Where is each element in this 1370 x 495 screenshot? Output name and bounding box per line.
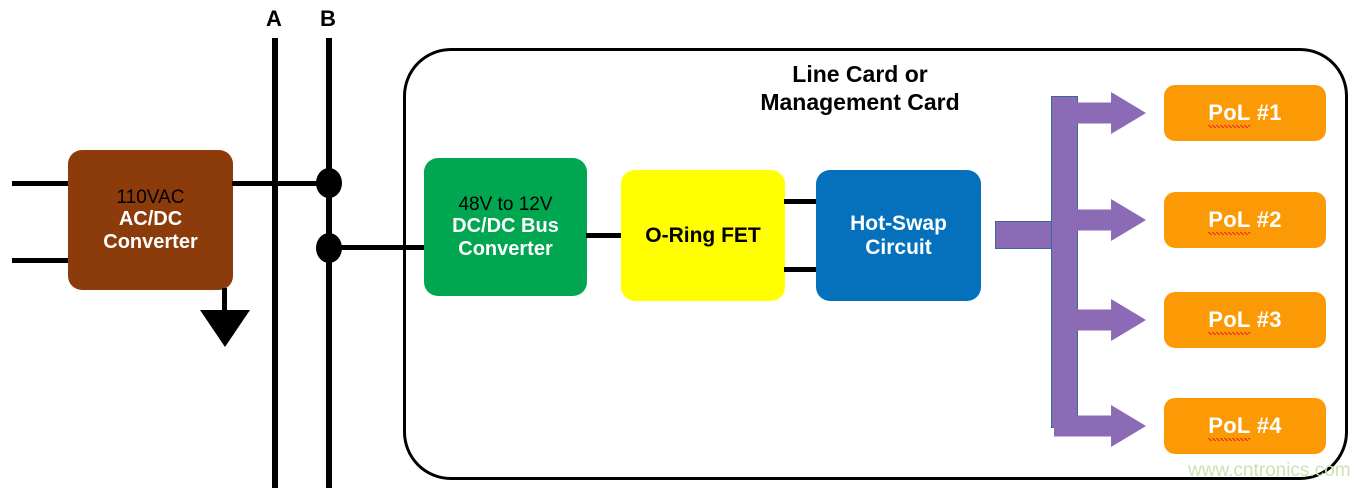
- block-pol-4[interactable]: PoL #4: [1164, 398, 1326, 454]
- block-dcdc-bus-converter[interactable]: 48V to 12V DC/DC Bus Converter: [424, 158, 587, 296]
- block-oring-fet[interactable]: O-Ring FET: [621, 170, 785, 301]
- junction-dot-upper: [316, 168, 342, 198]
- line-card-title-line1: Line Card or: [700, 60, 1020, 88]
- ac-input-line-top: [12, 181, 70, 186]
- block-pol-3-label: PoL #3: [1208, 307, 1282, 333]
- wire-dcdc-to-oring: [586, 233, 623, 238]
- block-dcdc-label-line1: DC/DC Bus: [452, 215, 559, 237]
- block-pol-1[interactable]: PoL #1: [1164, 85, 1326, 141]
- block-pol-4-label: PoL #4: [1208, 413, 1282, 439]
- block-pol-2-label: PoL #2: [1208, 207, 1282, 233]
- wire-oring-to-hotswap-bottom: [784, 267, 818, 272]
- block-acdc-sublabel: 110VAC: [117, 187, 185, 208]
- wire-oring-to-hotswap-top: [784, 199, 818, 204]
- pol-3-suffix: #3: [1250, 307, 1281, 332]
- bus-label-b: B: [320, 6, 336, 32]
- block-acdc-label-line2: Converter: [103, 231, 197, 253]
- block-pol-1-label: PoL #1: [1208, 100, 1282, 126]
- pol-2-word: PoL: [1208, 207, 1250, 235]
- bus-b-tap-wire: [336, 245, 431, 250]
- line-card-title: Line Card or Management Card: [700, 60, 1020, 116]
- pol-1-word: PoL: [1208, 100, 1250, 128]
- block-hotswap-label-line2: Circuit: [865, 236, 932, 260]
- line-card-title-line2: Management Card: [700, 88, 1020, 116]
- bus-bar-b: [326, 38, 332, 488]
- block-dcdc-label-line2: Converter: [458, 238, 552, 260]
- diagram-canvas: A B 110VAC AC/DC Converter Line Card or …: [0, 0, 1370, 495]
- pol-4-word: PoL: [1208, 413, 1250, 441]
- pol-1-suffix: #1: [1250, 100, 1281, 125]
- block-hotswap-label-line1: Hot-Swap: [850, 212, 947, 236]
- purple-bus-spine: [1051, 96, 1078, 428]
- block-pol-2[interactable]: PoL #2: [1164, 192, 1326, 248]
- ground-arrow-icon: [200, 310, 250, 347]
- block-pol-3[interactable]: PoL #3: [1164, 292, 1326, 348]
- block-acdc-converter[interactable]: 110VAC AC/DC Converter: [68, 150, 233, 290]
- pol-2-suffix: #2: [1250, 207, 1281, 232]
- site-watermark: www.cntronics.com: [1188, 460, 1351, 482]
- block-acdc-label-line1: AC/DC: [119, 208, 182, 230]
- block-oring-label: O-Ring FET: [645, 224, 760, 248]
- pol-4-suffix: #4: [1250, 413, 1281, 438]
- pol-3-word: PoL: [1208, 307, 1250, 335]
- bus-label-a: A: [266, 6, 282, 32]
- block-hot-swap-circuit[interactable]: Hot-Swap Circuit: [816, 170, 981, 301]
- block-dcdc-sublabel: 48V to 12V: [458, 194, 552, 215]
- bus-bar-a: [272, 38, 278, 488]
- purple-bus-stub: [995, 221, 1057, 249]
- ac-input-line-bottom: [12, 258, 70, 263]
